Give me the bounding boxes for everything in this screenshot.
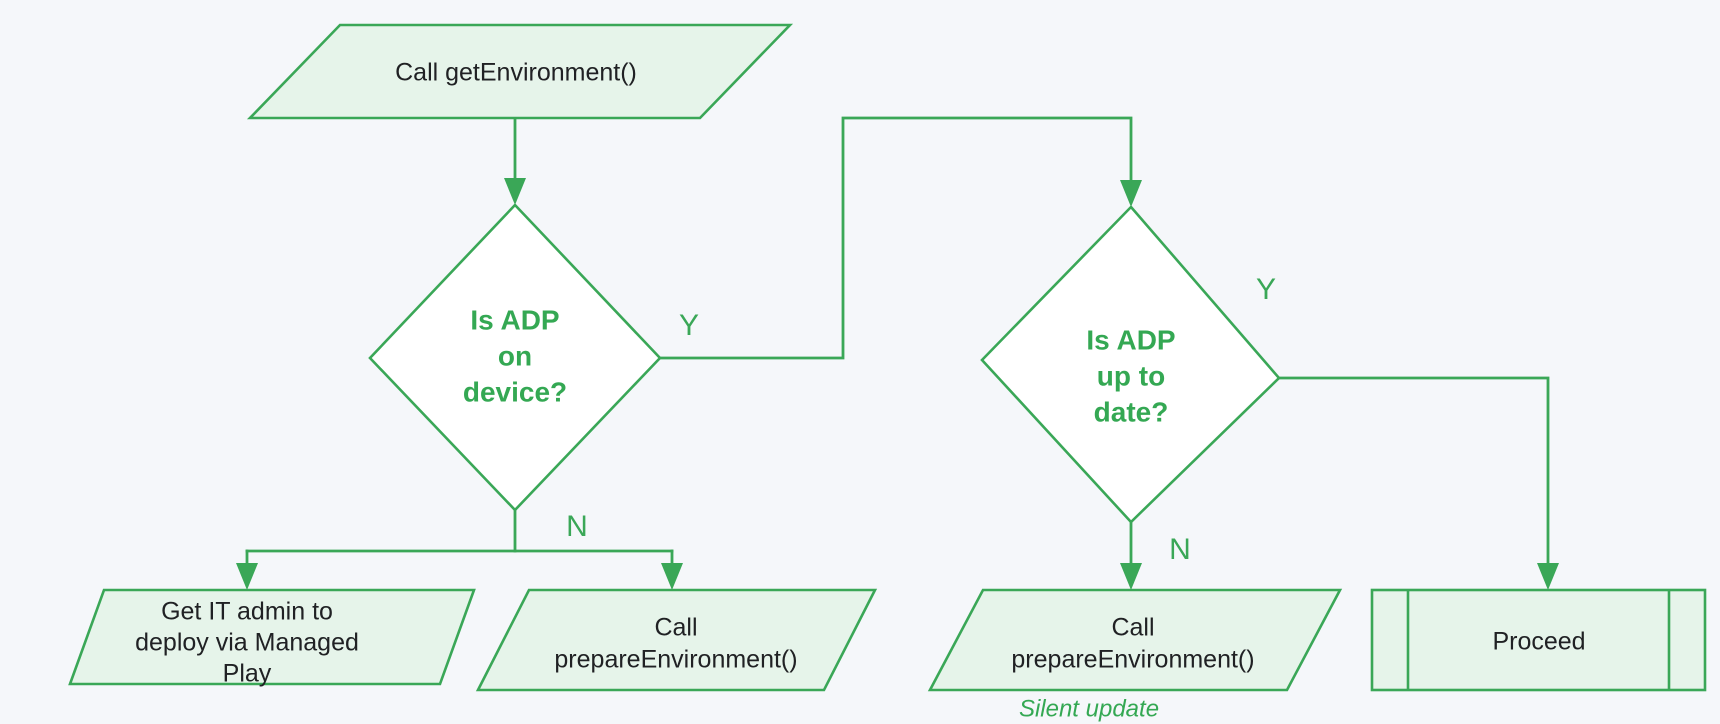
- prepare-env-left-line-1: Call: [654, 614, 697, 642]
- managed-play-line-1: Get IT admin to: [161, 598, 333, 626]
- node-get-it-admin-managed-play[interactable]: Get IT admin to deploy via Managed Play: [70, 590, 474, 688]
- silent-update-caption: Silent update: [1019, 695, 1159, 722]
- flowchart-canvas: Call getEnvironment() Is ADP on device? …: [0, 0, 1720, 724]
- node-proceed-label: Proceed: [1492, 628, 1585, 656]
- node-decision-is-adp-on-device[interactable]: Is ADP on device?: [370, 205, 660, 510]
- prepare-env-right-line-1: Call: [1111, 614, 1154, 642]
- node-call-prepare-environment-right[interactable]: Call prepareEnvironment(): [930, 590, 1340, 690]
- node-decision-is-adp-up-to-date[interactable]: Is ADP up to date?: [982, 207, 1279, 522]
- decision-up-to-date-line-1: Is ADP: [1086, 324, 1175, 355]
- branch-label-on-device-yes: Y: [679, 309, 699, 342]
- branch-label-on-device-no: N: [566, 510, 588, 543]
- connector-up-to-date-no: [1120, 522, 1142, 590]
- decision-up-to-date-line-3: date?: [1094, 396, 1169, 427]
- connector-up-to-date-yes: [1279, 378, 1559, 590]
- prepare-env-left-line-2: prepareEnvironment(): [554, 646, 797, 674]
- flowchart-svg: Call getEnvironment() Is ADP on device? …: [0, 0, 1720, 724]
- managed-play-line-2: deploy via Managed: [135, 629, 359, 657]
- node-call-prepare-environment-left[interactable]: Call prepareEnvironment(): [478, 590, 875, 690]
- decision-on-device-line-1: Is ADP: [470, 304, 559, 335]
- node-call-get-environment[interactable]: Call getEnvironment(): [250, 25, 790, 118]
- decision-up-to-date-line-2: up to: [1097, 360, 1165, 391]
- decision-on-device-line-2: on: [498, 340, 532, 371]
- node-call-get-environment-label: Call getEnvironment(): [395, 59, 637, 87]
- connector-start-to-decision-on-device: [504, 118, 526, 205]
- managed-play-line-3: Play: [223, 660, 272, 688]
- prepare-env-right-line-2: prepareEnvironment(): [1011, 646, 1254, 674]
- decision-on-device-line-3: device?: [463, 376, 567, 407]
- node-proceed[interactable]: Proceed: [1372, 590, 1705, 690]
- branch-label-up-to-date-yes: Y: [1256, 273, 1276, 306]
- branch-label-up-to-date-no: N: [1169, 533, 1191, 566]
- connector-on-device-no: [236, 510, 683, 590]
